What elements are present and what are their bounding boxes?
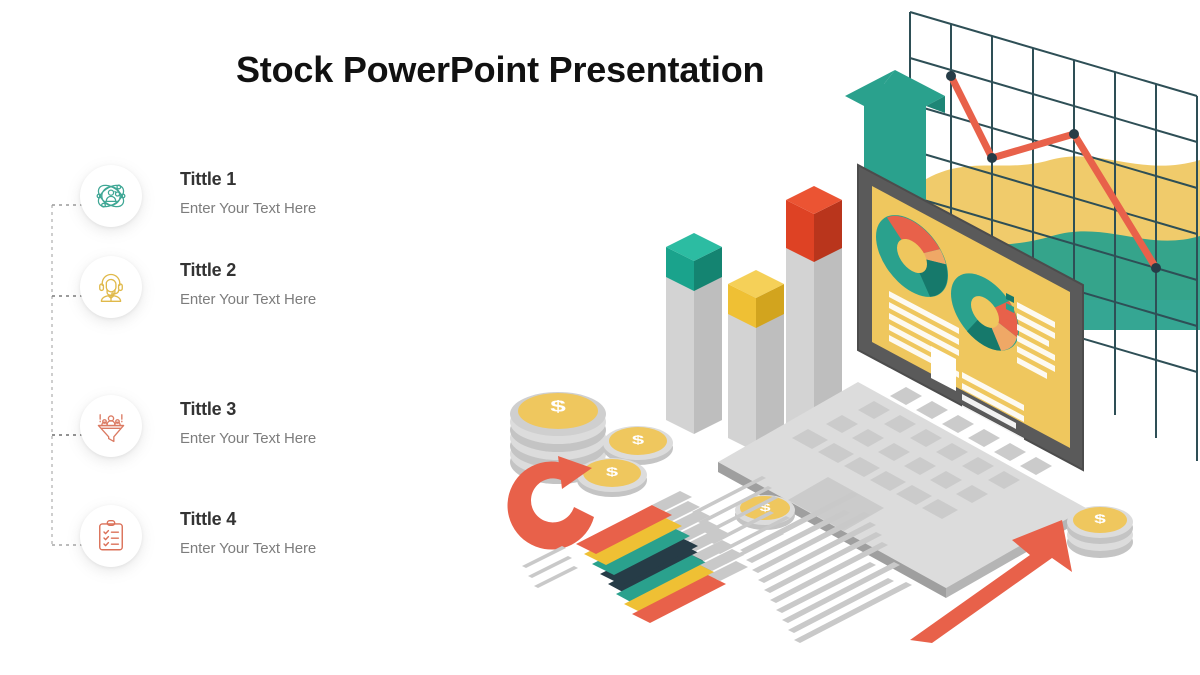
sidebar-item-icon-2[interactable]	[80, 256, 142, 318]
slide-canvas: Stock PowerPoint Presentation	[0, 0, 1200, 675]
list-item-texts: Tittle 3 Enter Your Text Here	[180, 399, 420, 448]
list-item-title: Tittle 3	[180, 399, 420, 421]
list-item[interactable]: Tittle 4 Enter Your Text Here	[80, 505, 410, 597]
list-item-subtitle: Enter Your Text Here	[180, 200, 420, 218]
list-item-title: Tittle 2	[180, 260, 420, 282]
list-item-title: Tittle 1	[180, 169, 420, 191]
list-item-texts: Tittle 1 Enter Your Text Here	[180, 169, 420, 218]
sidebar-item-icon-1[interactable]	[80, 165, 142, 227]
list-item[interactable]: Tittle 3 Enter Your Text Here	[80, 395, 410, 487]
network-person-icon	[91, 176, 131, 216]
clipboard-checklist-icon	[91, 516, 131, 556]
sales-funnel-icon	[91, 406, 131, 446]
document-text-left	[522, 546, 578, 588]
screen-legend	[1006, 293, 1014, 323]
bar-1	[666, 233, 722, 434]
list-item-texts: Tittle 4 Enter Your Text Here	[180, 509, 420, 558]
list-item-title: Tittle 4	[180, 509, 420, 531]
list-item-subtitle: Enter Your Text Here	[180, 291, 420, 309]
list-item-subtitle: Enter Your Text Here	[180, 430, 420, 448]
illustration: $ $ $	[440, 0, 1200, 675]
svg-text:$: $	[1094, 513, 1106, 526]
coin-single-2: $	[577, 458, 647, 497]
list-item-texts: Tittle 2 Enter Your Text Here	[180, 260, 420, 309]
sidebar-item-icon-4[interactable]	[80, 505, 142, 567]
svg-text:$: $	[632, 433, 644, 447]
list-item-subtitle: Enter Your Text Here	[180, 540, 420, 558]
svg-text:$: $	[606, 465, 618, 479]
list-item[interactable]: Tittle 1 Enter Your Text Here	[80, 165, 410, 257]
headset-agent-icon	[91, 267, 131, 307]
feature-list: Tittle 1 Enter Your Text Here	[0, 0, 400, 675]
coin-stack-small-right: $	[1067, 506, 1133, 558]
isometric-analytics-illustration: $ $ $	[440, 0, 1200, 675]
coin-dollar-glyph: $	[550, 398, 566, 415]
list-item[interactable]: Tittle 2 Enter Your Text Here	[80, 256, 410, 348]
sidebar-item-icon-3[interactable]	[80, 395, 142, 457]
